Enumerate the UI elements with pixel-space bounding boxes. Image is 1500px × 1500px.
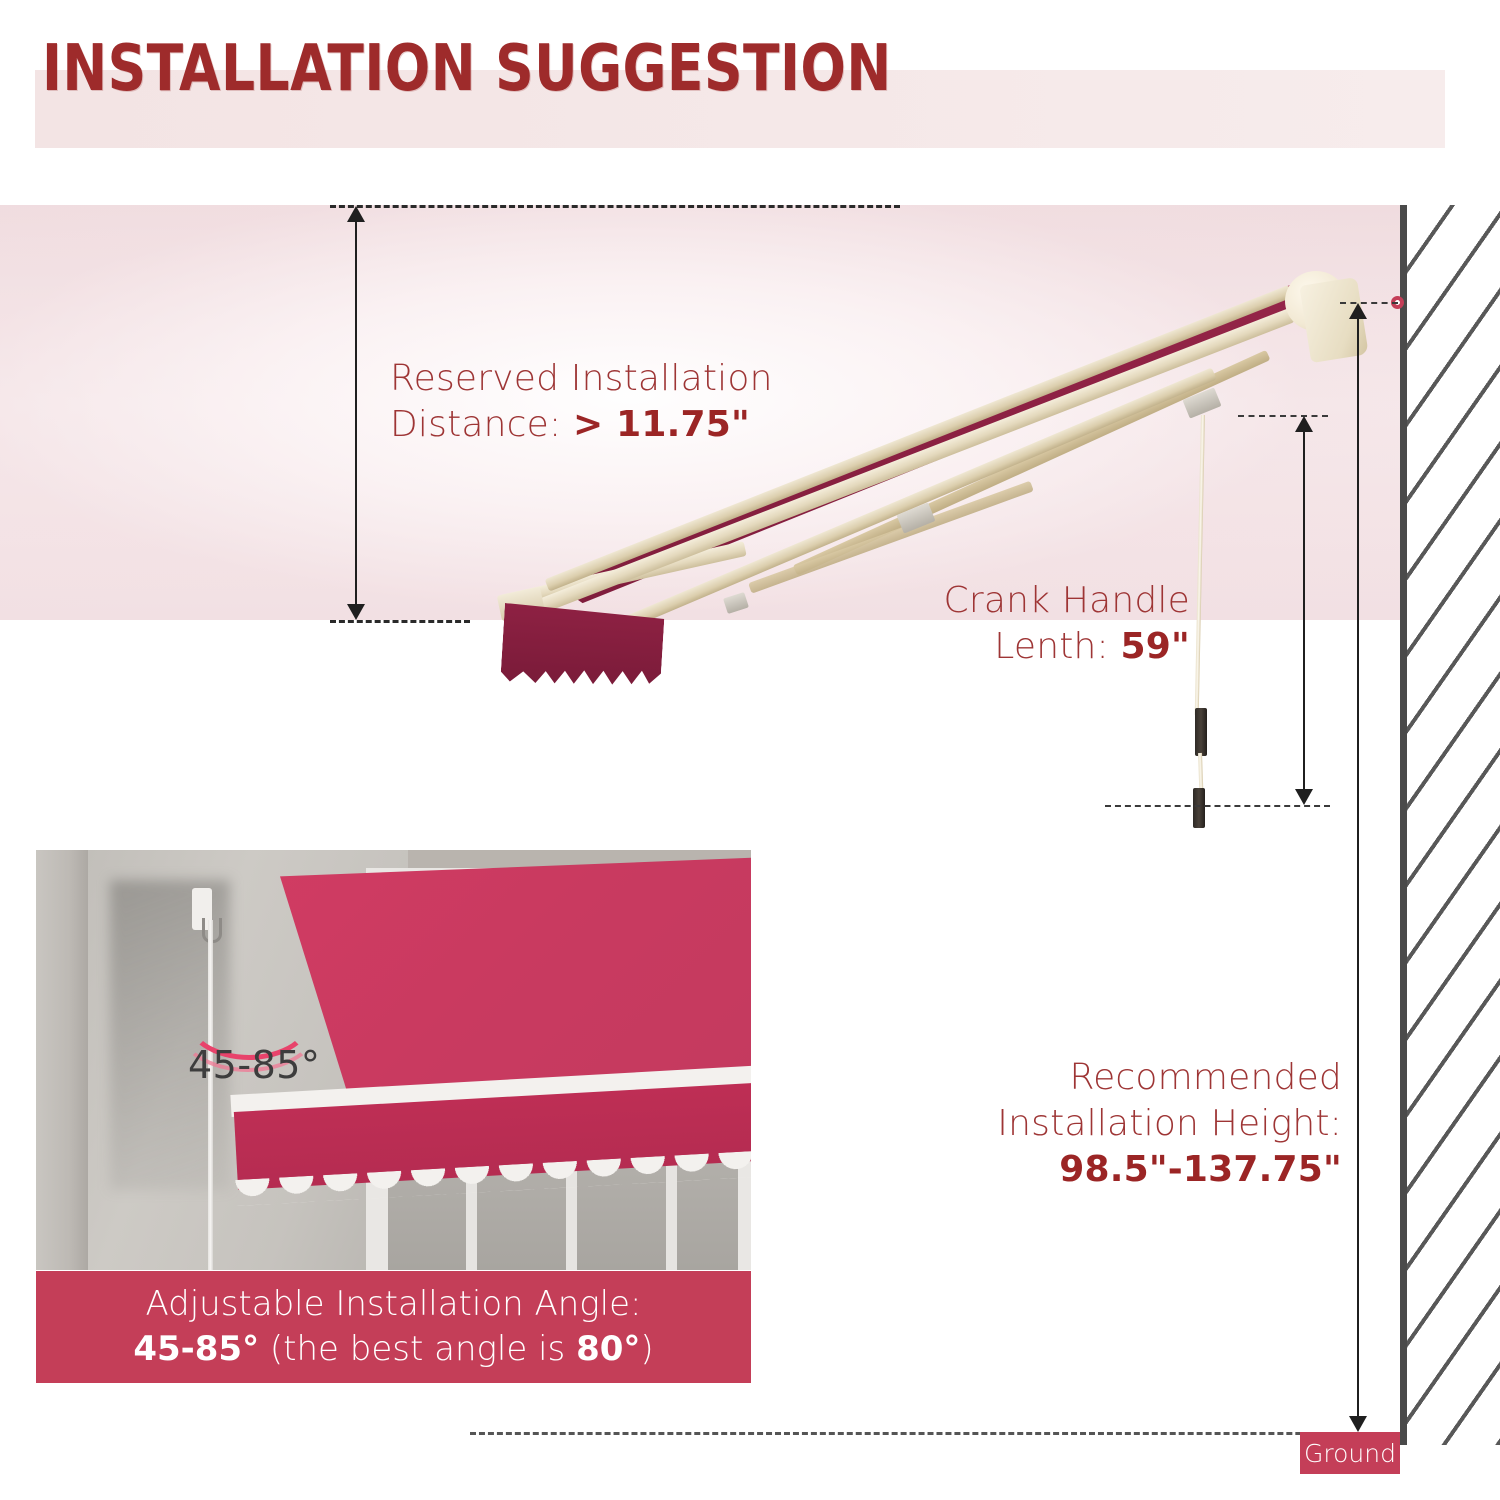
- reserved-distance-bottom-extension-line: [330, 620, 470, 623]
- crank-length-bottom-extension-line: [1105, 805, 1330, 807]
- ground-line: [470, 1432, 1400, 1435]
- page-title: INSTALLATION SUGGESTION: [42, 32, 892, 106]
- reserved-distance-arrow-down-icon: [347, 604, 365, 620]
- awning-bracket-clip: [723, 592, 749, 614]
- installation-height-line2: Installation Height:: [997, 1103, 1342, 1144]
- install-height-arrow-down-icon: [1349, 1416, 1367, 1432]
- crank-length-dimension-line: [1303, 418, 1305, 800]
- photo-angle-value: 45-85°: [188, 1043, 320, 1087]
- crank-handle-line2-prefix: Lenth:: [994, 626, 1120, 667]
- installation-angle-caption: Adjustable Installation Angle: 45-85° (t…: [36, 1271, 751, 1383]
- caption-mid-text: (the best angle is: [259, 1329, 576, 1369]
- crank-handle-line1: Crank Handle: [944, 580, 1190, 621]
- photo-crank-rod: [208, 920, 213, 1270]
- caption-line1: Adjustable Installation Angle:: [145, 1282, 641, 1327]
- caption-angle-range: 45-85°: [133, 1329, 259, 1369]
- crank-rod-grip-upper: [1195, 708, 1207, 756]
- install-height-dimension-line: [1357, 305, 1359, 1417]
- crank-length-top-extension-line: [1238, 415, 1328, 417]
- crank-length-arrow-down-icon: [1295, 789, 1313, 805]
- crank-rod-upper: [1195, 415, 1205, 715]
- wall-hatched: [1400, 205, 1500, 1445]
- installation-height-label: Recommended Installation Height: 98.5"-1…: [950, 1055, 1342, 1193]
- reserved-distance-line1: Reserved Installation: [390, 358, 773, 399]
- crank-handle-value: 59": [1121, 626, 1190, 667]
- caption-close-text: ): [640, 1329, 653, 1369]
- infographic-page: INSTALLATION SUGGESTION: [0, 0, 1500, 1500]
- reserved-distance-top-extension-line: [330, 205, 900, 208]
- reserved-distance-line2-prefix: Distance:: [390, 404, 573, 445]
- reserved-distance-value: > 11.75": [573, 404, 750, 445]
- awning-front-rail: [532, 308, 1294, 616]
- install-height-arrow-up-icon: [1349, 303, 1367, 319]
- crank-length-arrow-up-icon: [1295, 416, 1313, 432]
- photo-wall-left-edge: [36, 850, 92, 1270]
- crank-handle-label: Crank Handle Lenth: 59": [860, 578, 1190, 670]
- reserved-distance-arrow-up-icon: [347, 206, 365, 222]
- installation-height-line1: Recommended: [1069, 1057, 1342, 1098]
- reserved-distance-label: Reserved Installation Distance: > 11.75": [390, 356, 810, 448]
- caption-line2: 45-85° (the best angle is 80°): [133, 1327, 653, 1372]
- installation-photo-inset: 45-85°: [36, 850, 751, 1270]
- reserved-distance-dimension-line: [355, 208, 357, 616]
- installation-height-value: 98.5"-137.75": [1059, 1149, 1342, 1190]
- crank-rod-grip-lower: [1193, 788, 1205, 828]
- ground-badge: Ground: [1300, 1432, 1400, 1474]
- caption-best-angle: 80°: [576, 1329, 640, 1369]
